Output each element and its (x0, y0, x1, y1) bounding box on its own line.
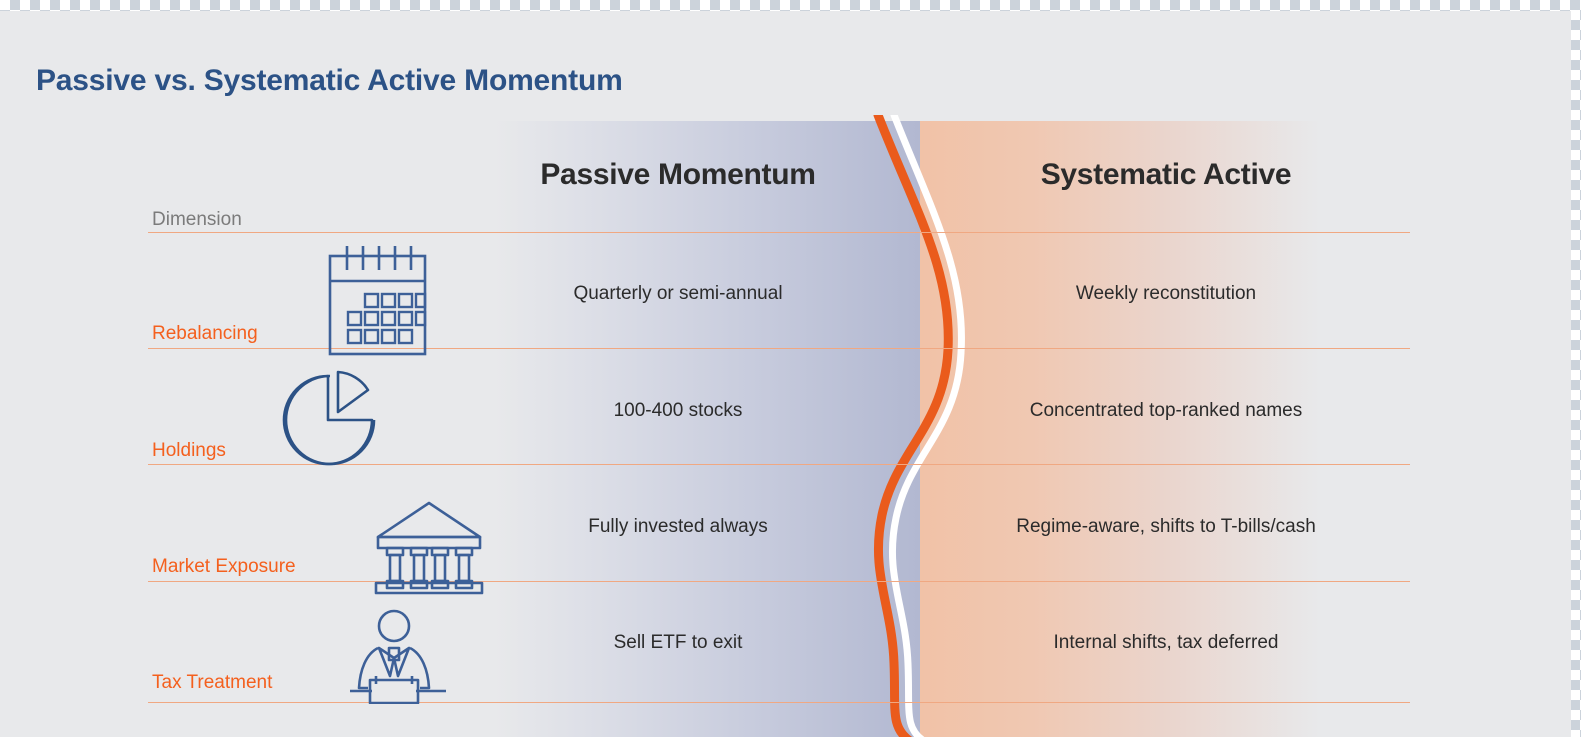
row-label-rebalancing: Rebalancing (152, 323, 258, 345)
column-header-active: Systematic Active (966, 158, 1366, 192)
cell-market-exposure-passive: Fully invested always (478, 516, 878, 538)
slide-canvas: Passive vs. Systematic Active Momentum P… (0, 11, 1571, 737)
bank-icon (370, 495, 488, 600)
dimension-caption: Dimension (152, 209, 242, 231)
calendar-icon (325, 244, 430, 361)
row-label-market-exposure: Market Exposure (152, 556, 296, 578)
cell-holdings-active: Concentrated top-ranked names (966, 400, 1366, 422)
cell-tax-treatment-active: Internal shifts, tax deferred (966, 632, 1366, 654)
person-at-desk-icon (348, 608, 448, 709)
page-title: Passive vs. Systematic Active Momentum (36, 64, 623, 98)
cell-rebalancing-active: Weekly reconstitution (966, 283, 1366, 305)
cell-holdings-passive: 100-400 stocks (478, 400, 878, 422)
column-header-passive: Passive Momentum (478, 158, 878, 192)
cell-rebalancing-passive: Quarterly or semi-annual (478, 283, 878, 305)
row-label-tax-treatment: Tax Treatment (152, 672, 272, 694)
row-separator (148, 232, 1410, 233)
row-separator (148, 702, 1410, 703)
row-label-holdings: Holdings (152, 440, 226, 462)
cell-market-exposure-active: Regime-aware, shifts to T-bills/cash (966, 516, 1366, 538)
pie-chart-icon (278, 368, 386, 481)
cell-tax-treatment-passive: Sell ETF to exit (478, 632, 878, 654)
row-separator (148, 581, 1410, 582)
